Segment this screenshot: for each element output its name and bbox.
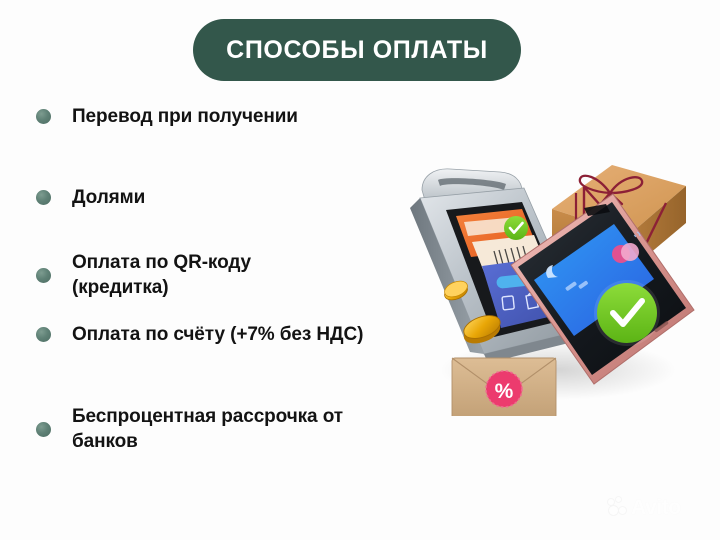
bullet-dot-icon [36,109,51,124]
page-title-badge: СПОСОБЫ ОПЛАТЫ [193,19,521,81]
page-title: СПОСОБЫ ОПЛАТЫ [226,38,488,63]
bullet-dot-icon [36,422,51,437]
discount-badge-icon: % [486,371,522,407]
avito-logo-icon [608,497,628,517]
list-item: Оплата по QR-коду (кредитка) [36,250,416,300]
list-item: Оплата по счёту (+7% без НДС) [36,322,416,347]
envelope-icon: % [452,358,556,416]
list-item: Беспроцентная рассрочка от банков [36,404,416,454]
list-item: Долями [36,185,416,210]
payment-method-label: Оплата по счёту (+7% без НДС) [72,322,363,347]
list-item: Перевод при получении [36,104,416,129]
payment-method-label: Оплата по QR-коду (кредитка) [72,250,332,300]
slide-canvas: СПОСОБЫ ОПЛАТЫ Перевод при получении Дол… [0,0,720,540]
bullet-dot-icon [36,327,51,342]
avito-watermark: Avito [608,492,706,522]
avito-watermark-label: Avito [631,497,681,518]
bullet-dot-icon [36,268,51,283]
check-circle-icon [594,280,660,346]
payment-method-label: Перевод при получении [72,104,298,129]
bullet-dot-icon [36,190,51,205]
payment-method-label: Долями [72,185,145,210]
payment-method-label: Беспроцентная рассрочка от банков [72,404,402,454]
svg-text:%: % [495,380,514,403]
payment-illustration: % [398,146,710,416]
